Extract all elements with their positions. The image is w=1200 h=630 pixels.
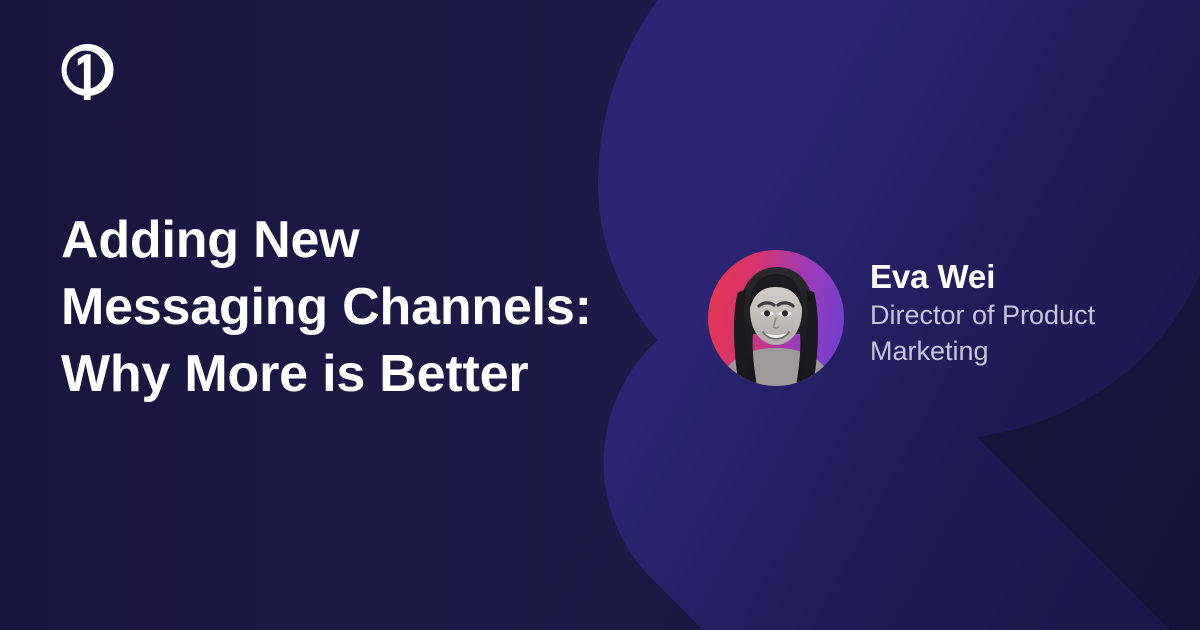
author-role-line-2: Marketing bbox=[870, 336, 989, 366]
author-block: Eva Wei Director of Product Marketing bbox=[708, 250, 1130, 386]
article-title-line-1: Adding New bbox=[61, 207, 681, 274]
social-share-card: Adding New Messaging Channels: Why More … bbox=[0, 0, 1200, 630]
article-title-line-2: Messaging Channels: bbox=[61, 274, 681, 341]
author-text: Eva Wei Director of Product Marketing bbox=[870, 250, 1130, 369]
author-name: Eva Wei bbox=[870, 256, 1130, 297]
author-role-line-1: Director of Product bbox=[870, 300, 1095, 330]
author-role: Director of Product Marketing bbox=[870, 297, 1130, 369]
article-title: Adding New Messaging Channels: Why More … bbox=[61, 207, 681, 408]
avatar bbox=[708, 250, 844, 386]
circle-one-logo-icon[interactable] bbox=[52, 40, 124, 104]
article-title-line-3: Why More is Better bbox=[61, 341, 681, 408]
